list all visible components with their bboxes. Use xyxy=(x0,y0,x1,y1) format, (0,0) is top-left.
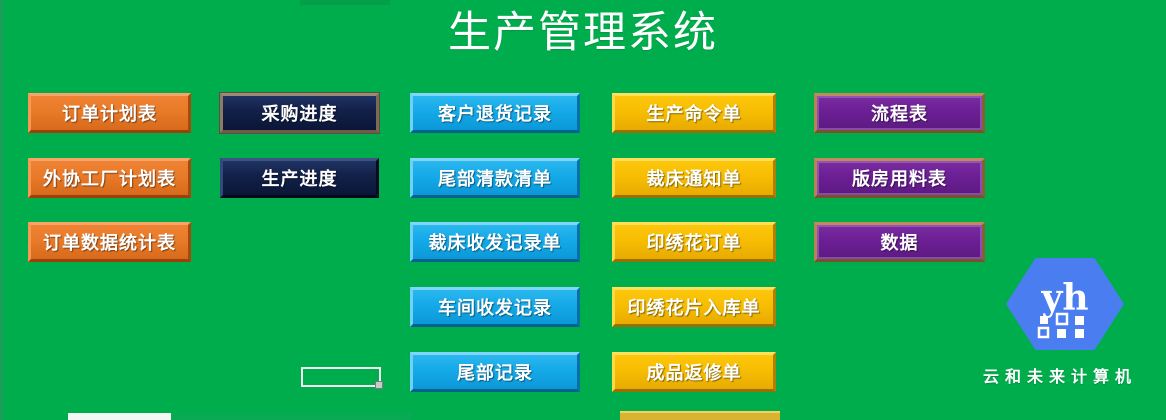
button-tail-settlement-list[interactable]: 尾部清款清单 xyxy=(410,158,580,198)
button-label: 外协工厂计划表 xyxy=(43,165,176,191)
button-label: 数据 xyxy=(881,229,919,255)
button-label: 印绣花订单 xyxy=(647,229,742,255)
bottom-strip-gold-button-top xyxy=(620,411,780,420)
button-outsourced-factory-plan[interactable]: 外协工厂计划表 xyxy=(28,158,191,198)
button-finished-goods-repair[interactable]: 成品返修单 xyxy=(612,352,776,392)
company-name-caption: 云和未来计算机 xyxy=(955,363,1165,387)
button-tail-record[interactable]: 尾部记录 xyxy=(410,352,580,392)
button-process-sheet[interactable]: 流程表 xyxy=(814,93,985,133)
button-order-plan-sheet[interactable]: 订单计划表 xyxy=(28,93,191,133)
button-purchase-progress[interactable]: 采购进度 xyxy=(220,93,379,133)
button-production-progress[interactable]: 生产进度 xyxy=(220,158,379,198)
svg-text:yh: yh xyxy=(1040,277,1088,319)
top-accent-band xyxy=(300,0,390,5)
button-label: 尾部记录 xyxy=(457,359,533,385)
left-edge-accent xyxy=(0,0,4,420)
button-label: 订单计划表 xyxy=(62,100,157,126)
button-label: 尾部清款清单 xyxy=(438,165,552,191)
button-order-data-statistics[interactable]: 订单数据统计表 xyxy=(28,222,191,262)
button-label: 采购进度 xyxy=(262,100,338,126)
button-cutting-notice[interactable]: 裁床通知单 xyxy=(612,158,776,198)
button-label: 订单数据统计表 xyxy=(43,229,176,255)
button-label: 裁床通知单 xyxy=(647,165,742,191)
bottom-strip-green xyxy=(171,413,411,420)
button-print-embroidery-order[interactable]: 印绣花订单 xyxy=(612,222,776,262)
button-label: 印绣花片入库单 xyxy=(628,294,761,320)
button-workshop-receipt-record[interactable]: 车间收发记录 xyxy=(410,287,580,327)
bottom-strip-white xyxy=(68,413,171,420)
app-root: 生产管理系统 订单计划表 外协工厂计划表 订单数据统计表 采购进度 生产进度 客… xyxy=(0,0,1166,420)
hexagon-logo-icon: yh xyxy=(1006,258,1124,350)
resize-handle[interactable] xyxy=(375,381,383,389)
button-print-embroidery-inbound[interactable]: 印绣花片入库单 xyxy=(612,287,776,327)
button-production-order[interactable]: 生产命令单 xyxy=(612,93,776,133)
button-label: 生产命令单 xyxy=(647,100,742,126)
button-customer-return-record[interactable]: 客户退货记录 xyxy=(410,93,580,133)
button-label: 裁床收发记录单 xyxy=(429,229,562,255)
button-label: 成品返修单 xyxy=(647,359,742,385)
page-title: 生产管理系统 xyxy=(0,8,1166,58)
button-cutting-receipt-record[interactable]: 裁床收发记录单 xyxy=(410,222,580,262)
button-label: 客户退货记录 xyxy=(438,100,552,126)
empty-text-field[interactable] xyxy=(301,367,381,387)
button-pattern-room-material[interactable]: 版房用料表 xyxy=(814,158,985,198)
button-label: 生产进度 xyxy=(262,165,338,191)
company-logo: yh xyxy=(1006,258,1124,350)
button-label: 版房用料表 xyxy=(852,165,947,191)
button-label: 车间收发记录 xyxy=(438,294,552,320)
button-label: 流程表 xyxy=(871,100,928,126)
button-data[interactable]: 数据 xyxy=(814,222,985,262)
